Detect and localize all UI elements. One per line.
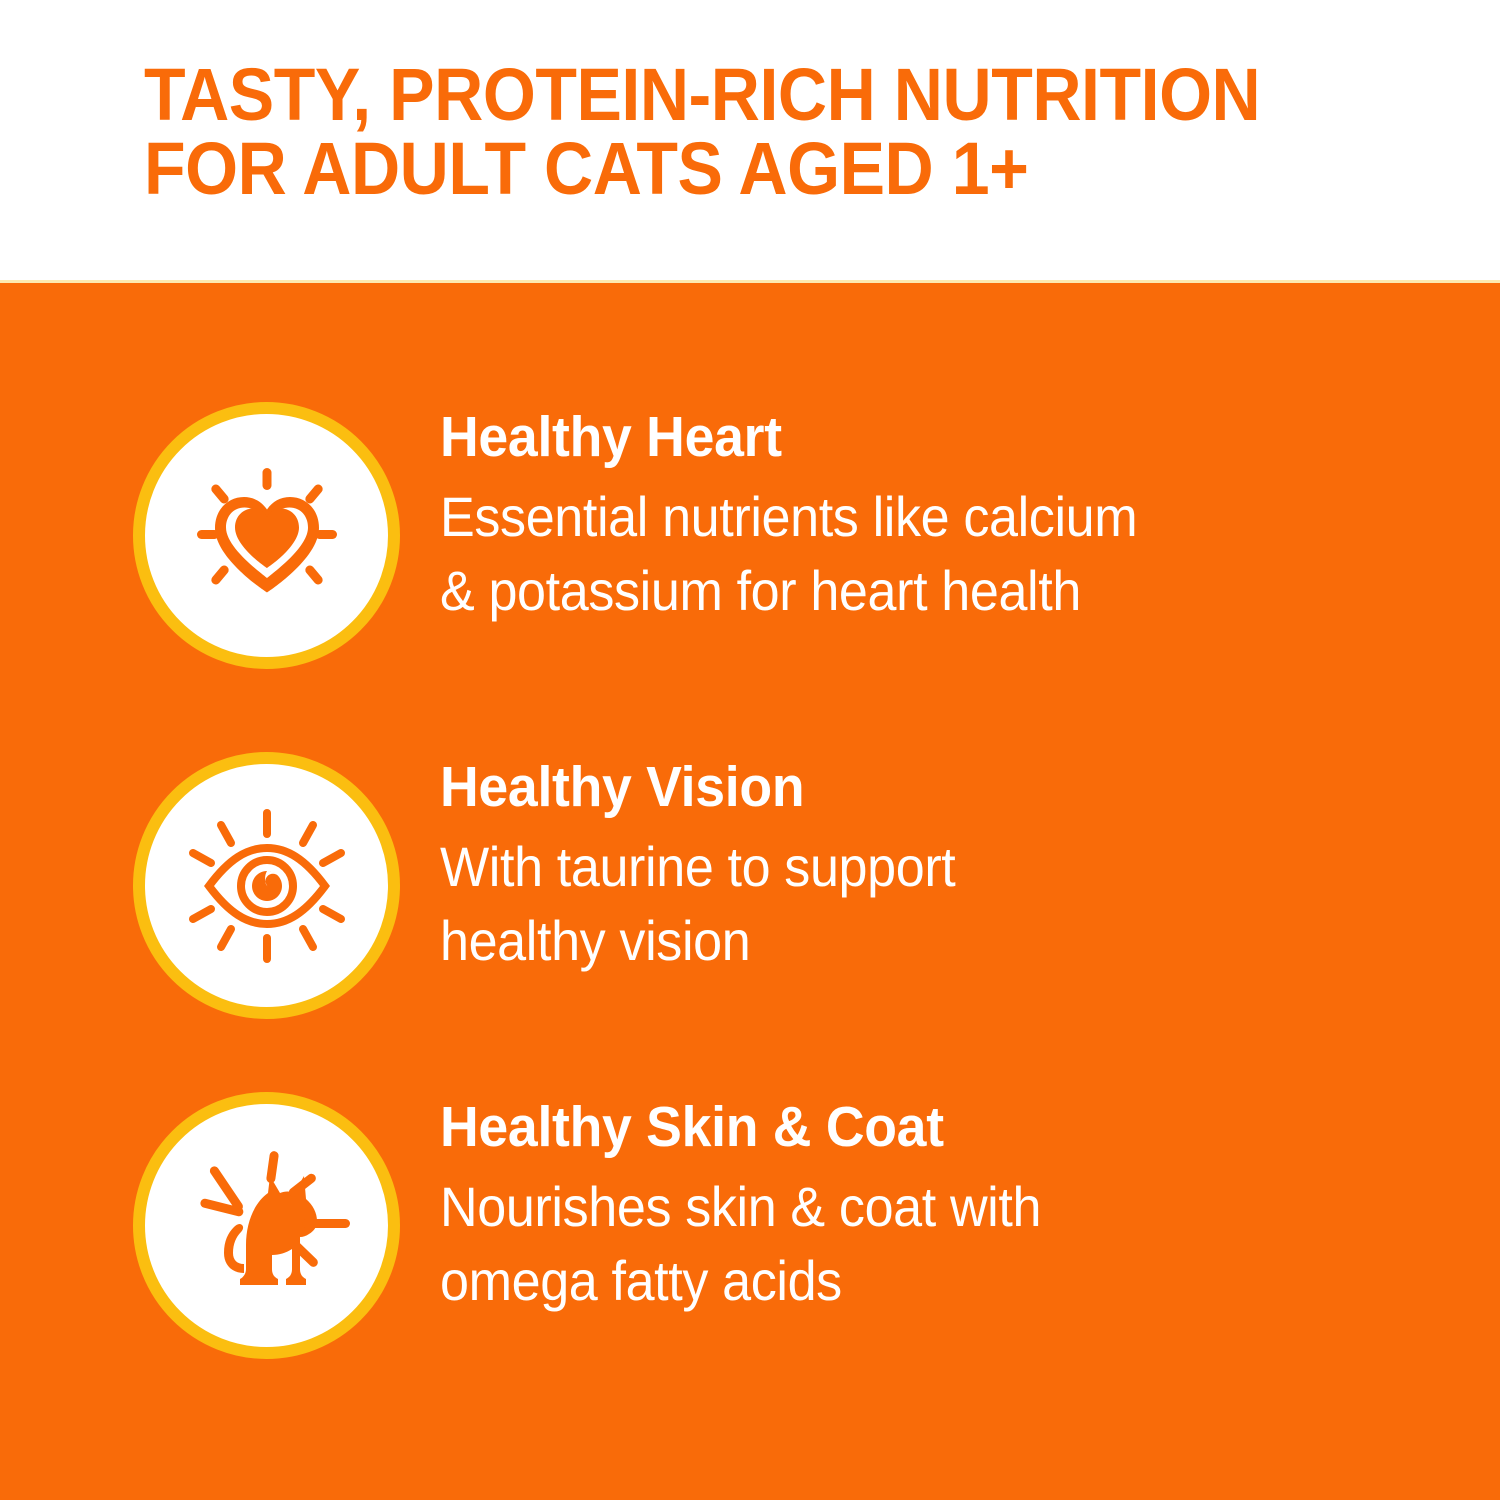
benefit-badge — [133, 402, 400, 669]
benefit-text: Healthy Skin & Coat Nourishes skin & coa… — [440, 1096, 1390, 1318]
benefit-badge — [133, 752, 400, 1019]
benefit-text: Healthy Vision With taurine to support h… — [440, 756, 1390, 978]
benefit-title: Healthy Heart — [440, 406, 1333, 468]
benefit-title: Healthy Vision — [440, 756, 1333, 818]
benefit-badge — [133, 1092, 400, 1359]
benefit-text: Healthy Heart Essential nutrients like c… — [440, 406, 1390, 628]
benefit-description: With taurine to support healthy vision — [440, 830, 1324, 978]
heart-icon — [187, 456, 347, 616]
cat-icon — [182, 1141, 352, 1311]
benefit-description: Essential nutrients like calcium & potas… — [440, 480, 1324, 628]
page-headline: TASTY, PROTEIN-RICH NUTRITION FOR ADULT … — [144, 58, 1340, 206]
promo-page: TASTY, PROTEIN-RICH NUTRITION FOR ADULT … — [0, 0, 1500, 1500]
benefit-description: Nourishes skin & coat with omega fatty a… — [440, 1170, 1324, 1318]
header-band: TASTY, PROTEIN-RICH NUTRITION FOR ADULT … — [0, 0, 1500, 281]
eye-icon — [184, 803, 350, 969]
benefit-title: Healthy Skin & Coat — [440, 1096, 1333, 1158]
benefits-panel: Healthy Heart Essential nutrients like c… — [0, 283, 1500, 1500]
